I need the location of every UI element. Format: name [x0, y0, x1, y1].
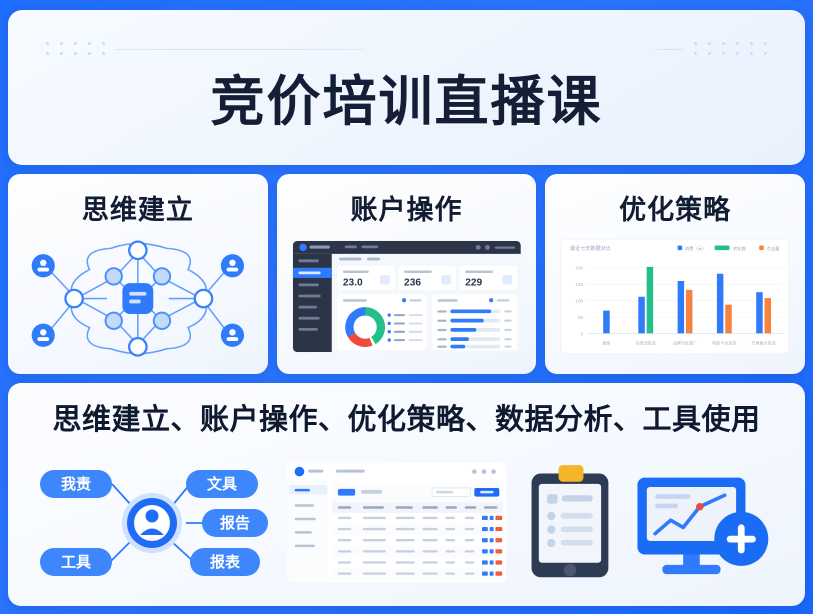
svg-text:点击量: 点击量 [767, 245, 781, 252]
svg-text:信息流投放: 信息流投放 [636, 340, 656, 346]
bar-chart: 最近七天数据对比消费（元）转化数点击量050100150200搜索信息流投放品牌… [545, 227, 805, 374]
svg-text:工具: 工具 [61, 554, 91, 571]
svg-text:开屏展示投放: 开屏展示投放 [752, 340, 776, 346]
table-dashboard-mockup [286, 444, 507, 602]
dot-grid-icon [694, 42, 767, 57]
svg-text:236: 236 [404, 277, 421, 288]
header-decoration-left [46, 42, 365, 57]
bottom-headline: 思维建立、账户操作、优化策略、数据分析、工具使用 [8, 383, 805, 444]
svg-text:报告: 报告 [220, 514, 250, 532]
bottom-illustration-row: 我责 文具 报告 报表 工具 [8, 444, 805, 606]
card-title: 账户操作 [351, 188, 463, 227]
feature-card-row: 思维建立 [8, 174, 805, 374]
feature-card-optimization[interactable]: 优化策略 最近七天数据对比消费（元）转化数点击量050100150200搜索信息… [545, 174, 805, 374]
feature-card-account[interactable]: 账户操作 [277, 174, 537, 374]
svg-text:品牌专区推广: 品牌专区推广 [673, 340, 697, 346]
feature-card-thinking[interactable]: 思维建立 [8, 174, 268, 374]
svg-text:200: 200 [576, 266, 584, 271]
svg-text:电商平台投放: 电商平台投放 [712, 340, 736, 346]
poster-header: 竞价培训直播课 [8, 10, 805, 165]
svg-text:转化数: 转化数 [734, 245, 748, 252]
svg-text:100: 100 [576, 299, 584, 304]
header-divider-line [115, 49, 365, 50]
dashboard-mockup: 23.0 236 229 [277, 227, 537, 374]
page-title: 竞价培训直播课 [211, 57, 603, 136]
svg-text:最近七天数据对比: 最近七天数据对比 [570, 245, 611, 252]
svg-text:搜索: 搜索 [603, 340, 611, 346]
svg-text:我责: 我责 [61, 475, 91, 493]
card-title: 优化策略 [619, 188, 731, 227]
bottom-panel: 思维建立、账户操作、优化策略、数据分析、工具使用 我责 [8, 383, 805, 606]
network-nodes-illustration [8, 227, 268, 374]
svg-text:报表: 报表 [210, 553, 241, 571]
card-title: 思维建立 [82, 188, 194, 227]
svg-text:0: 0 [581, 331, 584, 336]
svg-text:文具: 文具 [207, 475, 237, 493]
dot-grid-icon [46, 42, 105, 57]
svg-text:150: 150 [576, 282, 584, 287]
svg-text:50: 50 [578, 315, 584, 320]
header-decoration-right [654, 42, 767, 57]
header-divider-line [654, 49, 684, 50]
icon-cluster [517, 444, 787, 602]
svg-text:229: 229 [465, 277, 482, 288]
mindmap-illustration: 我责 文具 报告 报表 工具 [26, 444, 276, 602]
svg-text:消费（元）: 消费（元） [685, 245, 706, 252]
svg-text:23.0: 23.0 [343, 277, 363, 288]
